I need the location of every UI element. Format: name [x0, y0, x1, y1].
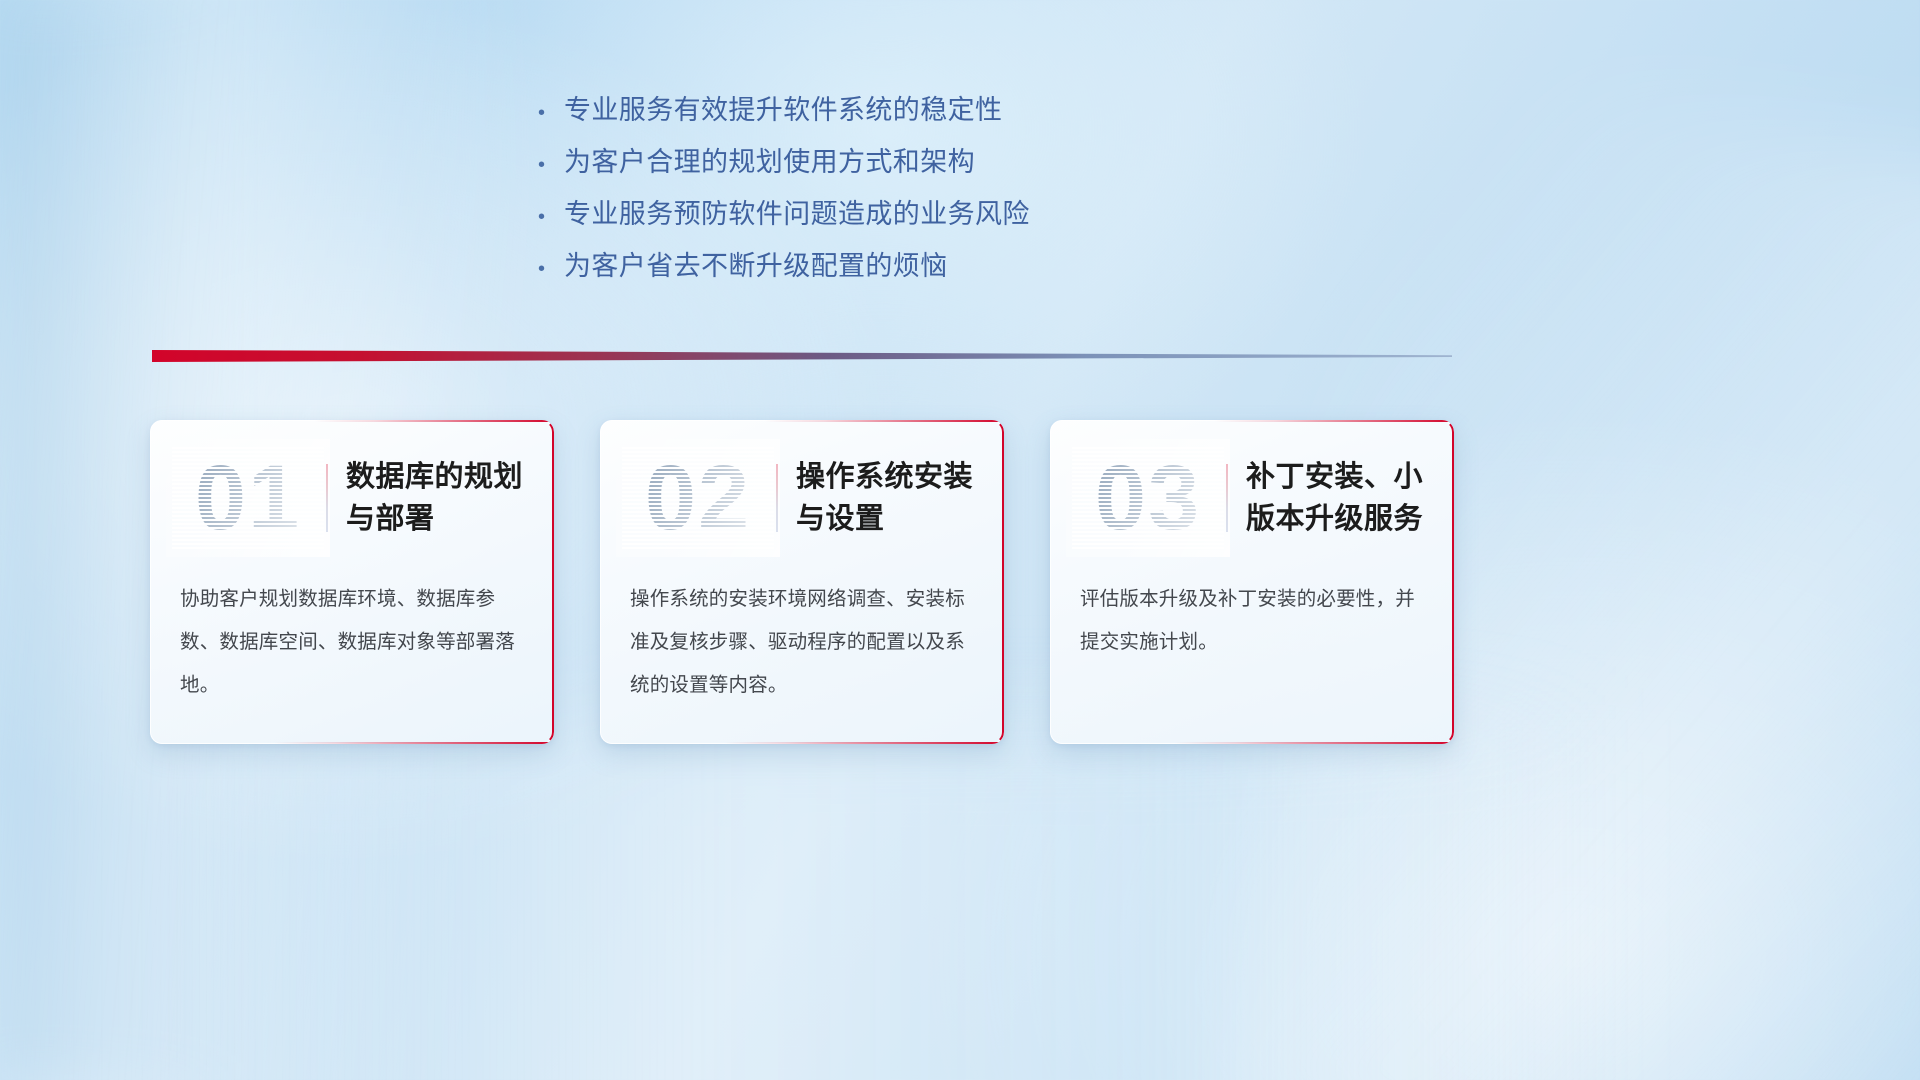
card-description: 评估版本升级及补丁安装的必要性，并提交实施计划。 [1080, 578, 1428, 664]
card-number-text: 01 [172, 445, 324, 551]
bullet-text: 为客户省去不断升级配置的烦恼 [564, 244, 948, 283]
list-item: • 为客户合理的规划使用方式和架构 [538, 140, 1298, 192]
card-title: 补丁安装、小版本升级服务 [1246, 456, 1454, 540]
card-title: 操作系统安装与设置 [796, 456, 1004, 540]
list-item: • 专业服务预防软件问题造成的业务风险 [538, 192, 1298, 244]
bullet-dot-icon: • [538, 103, 564, 123]
card-accent-bar [326, 464, 328, 532]
card-number-watermark: 02 [622, 445, 774, 551]
bullet-text: 专业服务有效提升软件系统的稳定性 [564, 88, 1002, 127]
card-number-watermark: 01 [172, 445, 324, 551]
card-description: 协助客户规划数据库环境、数据库参数、数据库空间、数据库对象等部署落地。 [180, 578, 528, 707]
card-header: 02 操作系统安装与设置 [600, 436, 1004, 560]
card-header: 03 补丁安装、小版本升级服务 [1050, 436, 1454, 560]
background-streak-bottom [120, 720, 1620, 1080]
section-divider [152, 344, 1452, 366]
bullet-dot-icon: • [538, 207, 564, 227]
service-card-01[interactable]: 01 数据库的规划与部署 协助客户规划数据库环境、数据库参数、数据库空间、数据库… [150, 420, 554, 744]
card-header: 01 数据库的规划与部署 [150, 436, 554, 560]
service-card-02[interactable]: 02 操作系统安装与设置 操作系统的安装环境网络调查、安装标准及复核步骤、驱动程… [600, 420, 1004, 744]
list-item: • 为客户省去不断升级配置的烦恼 [538, 244, 1298, 296]
list-item: • 专业服务有效提升软件系统的稳定性 [538, 88, 1298, 140]
card-number-text: 03 [1072, 445, 1224, 551]
card-title: 数据库的规划与部署 [346, 456, 554, 540]
card-number-text: 02 [622, 445, 774, 551]
bullet-text: 为客户合理的规划使用方式和架构 [564, 140, 975, 179]
bullet-text: 专业服务预防软件问题造成的业务风险 [564, 192, 1030, 231]
bullet-dot-icon: • [538, 259, 564, 279]
bullet-dot-icon: • [538, 155, 564, 175]
card-accent-bar [776, 464, 778, 532]
service-cards-row: 01 数据库的规划与部署 协助客户规划数据库环境、数据库参数、数据库空间、数据库… [150, 420, 1770, 744]
service-card-03[interactable]: 03 补丁安装、小版本升级服务 评估版本升级及补丁安装的必要性，并提交实施计划。 [1050, 420, 1454, 744]
benefits-bullet-list: • 专业服务有效提升软件系统的稳定性 • 为客户合理的规划使用方式和架构 • 专… [538, 88, 1298, 296]
card-description: 操作系统的安装环境网络调查、安装标准及复核步骤、驱动程序的配置以及系统的设置等内… [630, 578, 978, 707]
card-number-watermark: 03 [1072, 445, 1224, 551]
card-accent-bar [1226, 464, 1228, 532]
